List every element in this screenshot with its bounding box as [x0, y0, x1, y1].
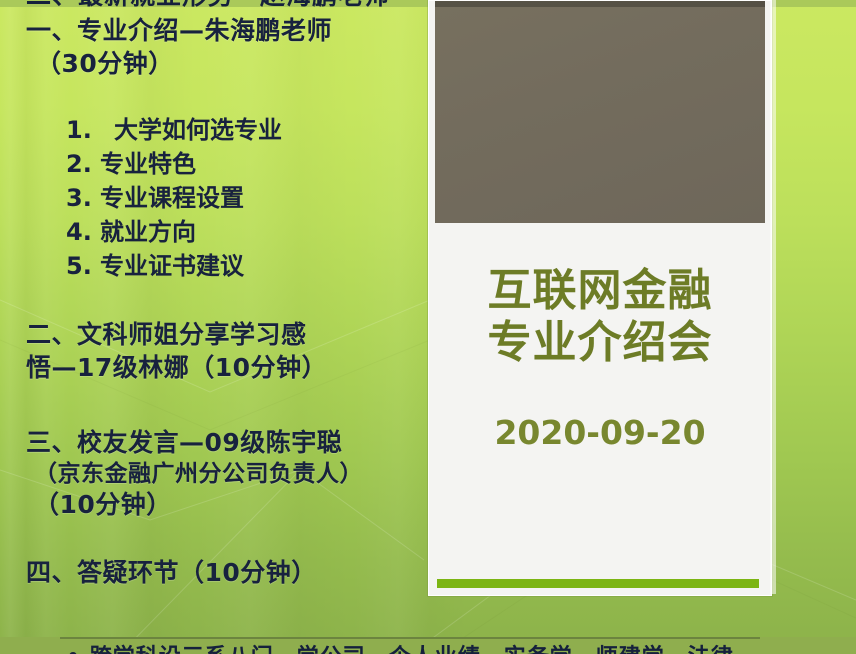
- agenda-sub-item-number: 2.: [66, 147, 100, 181]
- title-line-1: 互联网金融: [488, 265, 713, 316]
- agenda-sub-item: 2. 专业特色: [66, 147, 424, 181]
- title-card-accent-bar: [437, 579, 759, 588]
- cropped-slide-below-text: • 跨学科设三系八门—学公司、个人业绩、实务学、师建学、法律: [66, 639, 856, 654]
- agenda-sub-item: 4. 就业方向: [66, 215, 424, 249]
- agenda-section-one: 一、专业介绍—朱海鹏老师 （30分钟）: [26, 15, 424, 80]
- agenda-sub-item-label: 专业特色: [100, 147, 196, 181]
- title-card-heading: 互联网金融 专业介绍会: [429, 265, 771, 369]
- agenda-sub-item-label: 专业证书建议: [100, 249, 244, 283]
- agenda-sub-item-number: 3.: [66, 181, 100, 215]
- agenda-section-four-line-1: 四、答疑环节（10分钟）: [26, 557, 424, 590]
- title-line-2: 专业介绍会: [429, 317, 771, 369]
- agenda-section-four: 四、答疑环节（10分钟）: [26, 557, 424, 590]
- card-right-gutter: [770, 0, 776, 594]
- agenda-sub-item: 3. 专业课程设置: [66, 181, 424, 215]
- agenda-sub-list: 1. 大学如何选专业 2. 专业特色 3. 专业课程设置 4. 就业方向 5. …: [66, 113, 424, 283]
- agenda-sub-item-number: 4.: [66, 215, 100, 249]
- agenda-section-two-line-2: 悟—17级林娜（10分钟）: [26, 352, 424, 385]
- agenda-sub-item-label: 专业课程设置: [100, 181, 244, 215]
- agenda-section-two: 二、文科师姐分享学习感 悟—17级林娜（10分钟）: [26, 319, 424, 384]
- title-card-date: 2020-09-20: [429, 413, 771, 452]
- agenda-column: 一、专业介绍—朱海鹏老师 （30分钟） 1. 大学如何选专业 2. 专业特色 3…: [0, 7, 424, 637]
- title-card: 互联网金融 专业介绍会 2020-09-20: [428, 0, 772, 596]
- agenda-sub-item-number: 5.: [66, 249, 100, 283]
- title-card-body: 互联网金融 专业介绍会 2020-09-20: [429, 223, 771, 595]
- photo-placeholder: [435, 1, 765, 223]
- agenda-sub-item: 5. 专业证书建议: [66, 249, 424, 283]
- agenda-sub-item-number: 1.: [66, 113, 100, 147]
- agenda-section-three-line-2: （京东金融广州分公司负责人）: [34, 460, 436, 490]
- agenda-section-three-line-1: 三、校友发言—09级陈宇聪: [26, 427, 436, 460]
- agenda-section-three-line-3: （10分钟）: [34, 489, 436, 522]
- slide-canvas: 二、最新就业形势—赵海鹏老师 一、专业介绍—朱海鹏老师 （30分钟） 1. 大学…: [0, 0, 856, 654]
- agenda-section-one-line-1: 一、专业介绍—朱海鹏老师: [26, 15, 424, 48]
- cropped-slide-below: • 跨学科设三系八门—学公司、个人业绩、实务学、师建学、法律: [0, 637, 856, 654]
- photo-top-crop: [435, 1, 765, 7]
- agenda-section-two-line-1: 二、文科师姐分享学习感: [26, 319, 424, 352]
- agenda-sub-item-label: 大学如何选专业: [100, 113, 282, 147]
- agenda-section-one-line-2: （30分钟）: [36, 48, 424, 81]
- agenda-section-three: 三、校友发言—09级陈宇聪 （京东金融广州分公司负责人） （10分钟）: [26, 427, 436, 522]
- agenda-sub-item: 1. 大学如何选专业: [66, 113, 424, 147]
- agenda-sub-item-label: 就业方向: [100, 215, 196, 249]
